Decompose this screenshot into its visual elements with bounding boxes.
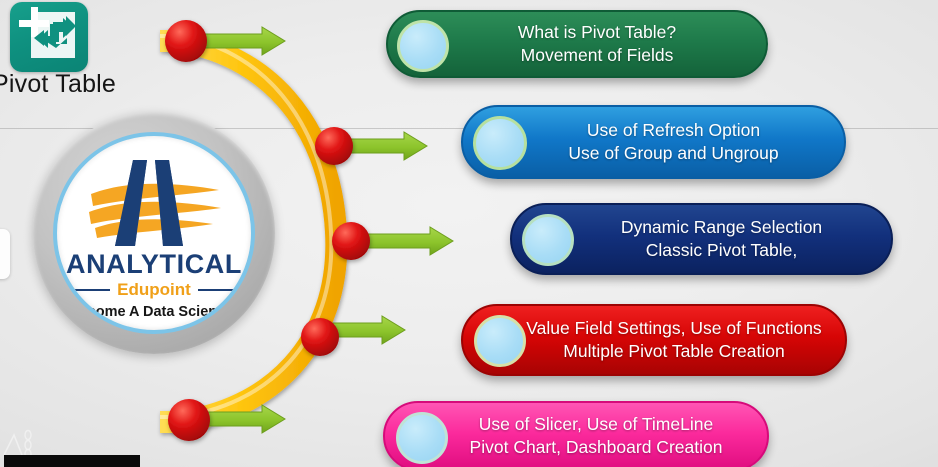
card-line-1: What is Pivot Table? — [518, 22, 676, 42]
flow-marker-5 — [168, 399, 210, 441]
flow-marker-3 — [332, 222, 370, 260]
card-line-2: Movement of Fields — [440, 44, 754, 67]
card-line-2: Use of Group and Ungroup — [515, 142, 832, 165]
card-line-1: Use of Refresh Option — [587, 120, 760, 140]
card-line-1: Value Field Settings, Use of Functions — [526, 318, 821, 338]
flow-marker-2 — [315, 127, 353, 165]
slide-canvas: Pivot Table ANALYTICAL Edupoint Become A… — [0, 0, 938, 467]
card-line-2: Pivot Chart, Dashboard Creation — [437, 436, 755, 459]
card-bubble — [474, 315, 526, 367]
card-line-2: Multiple Pivot Table Creation — [515, 340, 833, 363]
flow-marker-1 — [165, 20, 207, 62]
bottom-left-black-bar — [4, 455, 140, 467]
card-line-1: Use of Slicer, Use of TimeLine — [479, 414, 713, 434]
card-bubble — [397, 20, 449, 72]
card-bubble — [473, 116, 527, 170]
card-line-1: Dynamic Range Selection — [621, 217, 822, 237]
flow-arc — [160, 35, 342, 428]
card-what-is-pivot-table[interactable]: What is Pivot Table? Movement of Fields — [386, 10, 768, 78]
card-bubble — [522, 214, 574, 266]
card-bubble — [396, 412, 448, 464]
card-slicer-timeline[interactable]: Use of Slicer, Use of TimeLine Pivot Cha… — [383, 401, 769, 467]
card-dynamic-range[interactable]: Dynamic Range Selection Classic Pivot Ta… — [510, 203, 893, 275]
card-line-2: Classic Pivot Table, — [564, 239, 879, 262]
flow-marker-4 — [301, 318, 339, 356]
corner-watermark-icon — [2, 425, 48, 457]
card-value-field-settings[interactable]: Value Field Settings, Use of Functions M… — [461, 304, 847, 376]
card-refresh-group[interactable]: Use of Refresh Option Use of Group and U… — [461, 105, 846, 179]
